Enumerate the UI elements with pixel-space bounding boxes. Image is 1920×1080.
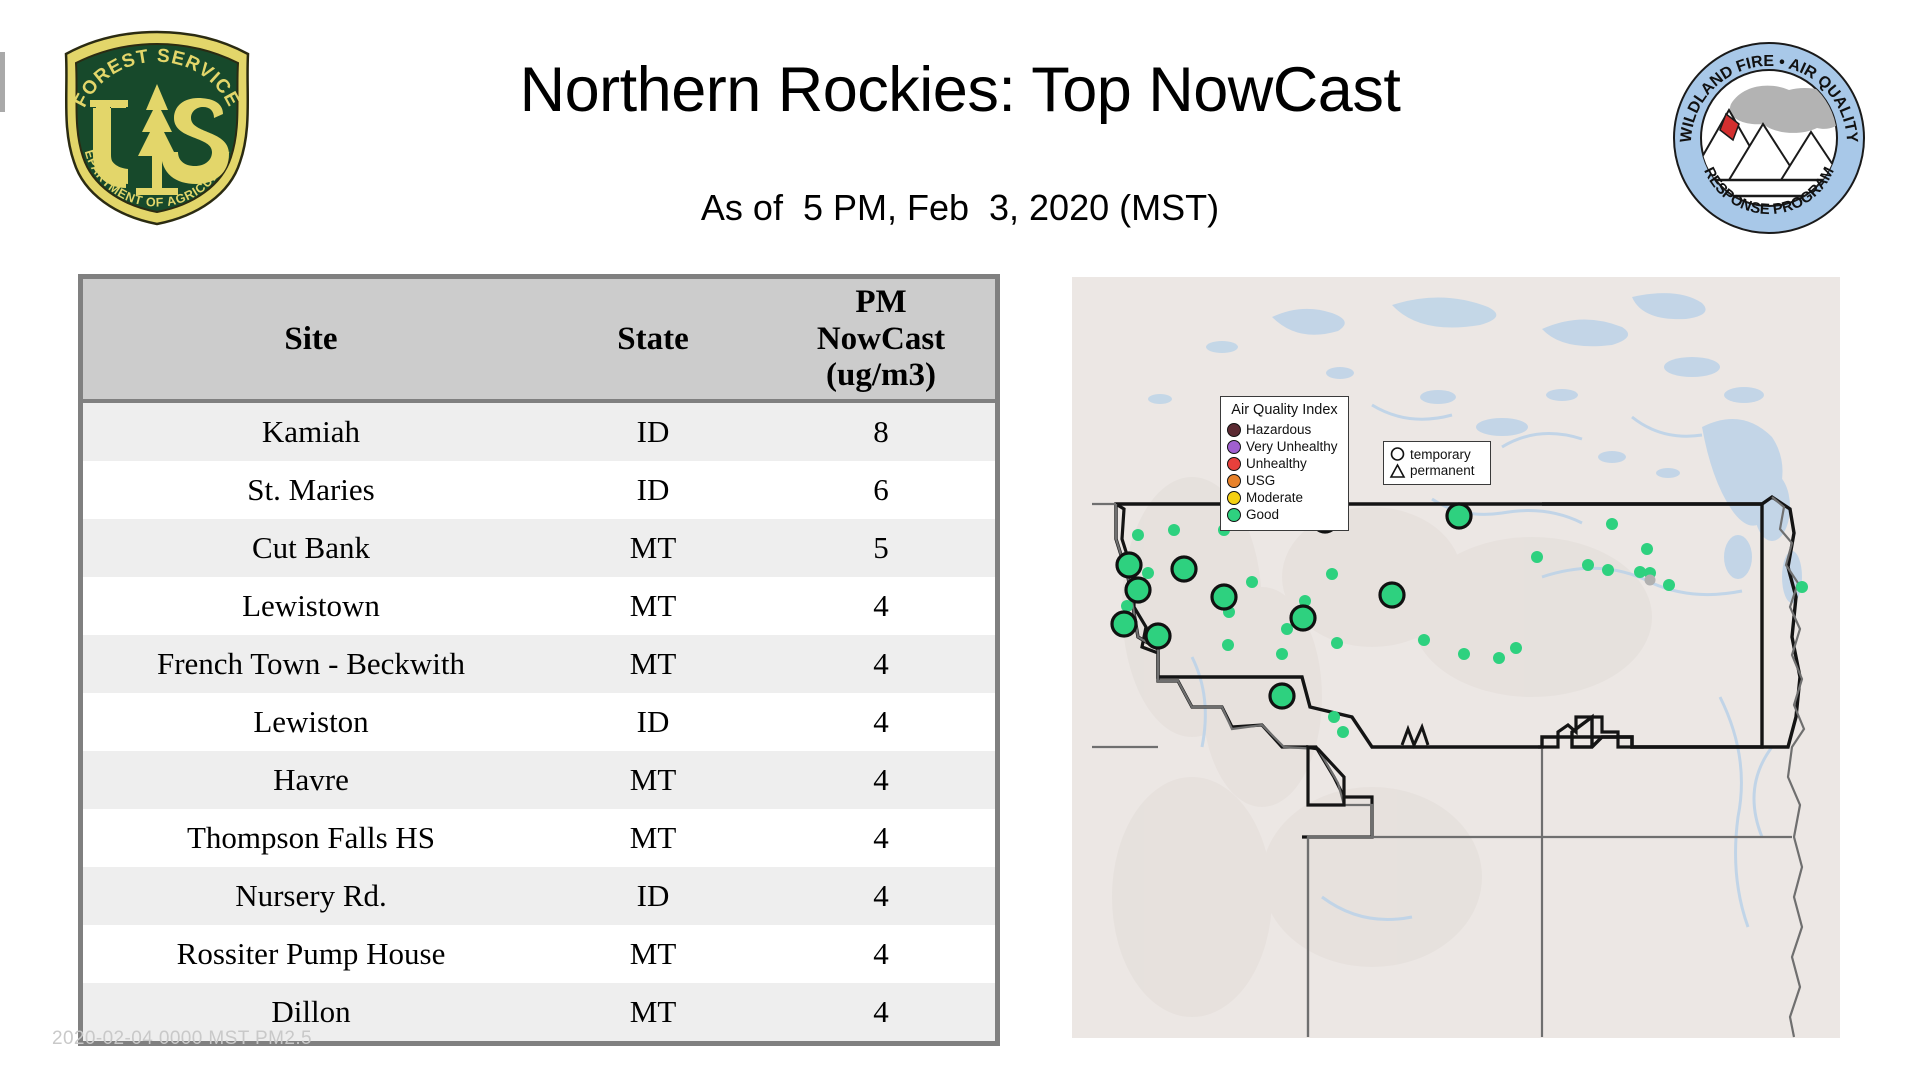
legend-permanent-label: permanent [1410, 463, 1475, 479]
cell-pm-nowcast: 4 [767, 809, 995, 867]
map-legend-air-quality-index: Air Quality Index HazardousVery Unhealth… [1220, 396, 1349, 531]
legend-color-dot-icon [1227, 423, 1241, 437]
monitor-dot[interactable] [1582, 559, 1594, 571]
monitor-dot-highlighted[interactable] [1270, 684, 1294, 708]
monitor-dot[interactable] [1276, 648, 1288, 660]
cell-state: ID [539, 401, 767, 461]
table-row: Rossiter Pump HouseMT4 [83, 925, 995, 983]
legend-temporary-label: temporary [1410, 447, 1475, 463]
monitor-dot[interactable] [1326, 568, 1338, 580]
table-row: KamiahID8 [83, 401, 995, 461]
monitor-dot[interactable] [1458, 648, 1470, 660]
cell-pm-nowcast: 8 [767, 401, 995, 461]
map-legend-site-type: temporary permanent [1383, 441, 1491, 485]
temporary-circle-icon [1392, 448, 1404, 460]
monitor-dot[interactable] [1132, 529, 1144, 541]
legend-item: USG [1227, 472, 1342, 489]
cell-site: Thompson Falls HS [83, 809, 539, 867]
monitor-dot-highlighted[interactable] [1126, 578, 1150, 602]
legend-color-dot-icon [1227, 508, 1241, 522]
monitor-dot-highlighted[interactable] [1112, 612, 1136, 636]
monitor-dot[interactable] [1531, 551, 1543, 563]
legend-item-label: Hazardous [1246, 423, 1311, 437]
monitor-dot-offline [1645, 575, 1656, 586]
cell-pm-nowcast: 4 [767, 635, 995, 693]
column-header-pm-nowcast: PM NowCast (ug/m3) [767, 279, 995, 401]
legend-item-label: Very Unhealthy [1246, 440, 1338, 454]
cell-site: St. Maries [83, 461, 539, 519]
cell-site: Kamiah [83, 401, 539, 461]
cell-site: Havre [83, 751, 539, 809]
monitor-dot[interactable] [1331, 637, 1343, 649]
legend-item: Unhealthy [1227, 455, 1342, 472]
monitor-dot[interactable] [1337, 726, 1349, 738]
table-row: Cut BankMT5 [83, 519, 995, 577]
legend-item-label: Moderate [1246, 491, 1303, 505]
monitor-dot[interactable] [1510, 642, 1522, 654]
cell-pm-nowcast: 4 [767, 867, 995, 925]
page-title: Northern Rockies: Top NowCast [260, 56, 1660, 125]
cell-pm-nowcast: 4 [767, 925, 995, 983]
cell-pm-nowcast: 4 [767, 751, 995, 809]
monitor-dot[interactable] [1168, 524, 1180, 536]
site-type-icons [1389, 446, 1406, 480]
monitor-dot[interactable] [1418, 634, 1430, 646]
legend-item: Hazardous [1227, 421, 1342, 438]
legend-color-dot-icon [1227, 491, 1241, 505]
page-subtitle: As of 5 PM, Feb 3, 2020 (MST) [260, 186, 1660, 229]
cell-pm-nowcast: 4 [767, 693, 995, 751]
slide-edge-artifact [0, 52, 5, 112]
table-row: French Town - BeckwithMT4 [83, 635, 995, 693]
cell-state: MT [539, 983, 767, 1041]
table-row: HavreMT4 [83, 751, 995, 809]
cell-state: ID [539, 867, 767, 925]
cell-state: MT [539, 635, 767, 693]
cell-state: MT [539, 809, 767, 867]
cell-state: MT [539, 751, 767, 809]
wildland-fire-air-quality-logo: WILDLAND FIRE • AIR QUALITY RESPONSE PRO… [1671, 40, 1867, 236]
cell-pm-nowcast: 4 [767, 577, 995, 635]
monitor-dot-highlighted[interactable] [1447, 504, 1471, 528]
monitor-dot[interactable] [1281, 623, 1293, 635]
legend-color-dot-icon [1227, 440, 1241, 454]
monitor-dot[interactable] [1222, 639, 1234, 651]
column-header-site: Site [83, 279, 539, 401]
cell-state: MT [539, 925, 767, 983]
column-header-state: State [539, 279, 767, 401]
us-forest-service-logo: FOREST SERVICE DEPARTMENT OF AGRICULTURE [48, 28, 266, 228]
monitor-dot-highlighted[interactable] [1212, 585, 1236, 609]
monitor-dot[interactable] [1641, 543, 1653, 555]
cell-pm-nowcast: 5 [767, 519, 995, 577]
air-quality-monitor-map[interactable] [1072, 277, 1840, 1038]
monitor-dot[interactable] [1663, 579, 1675, 591]
monitor-dot-highlighted[interactable] [1117, 553, 1141, 577]
monitor-dot[interactable] [1142, 567, 1154, 579]
monitor-dot-highlighted[interactable] [1172, 557, 1196, 581]
legend-item: Very Unhealthy [1227, 438, 1342, 455]
monitor-dot[interactable] [1121, 600, 1133, 612]
cell-state: MT [539, 577, 767, 635]
table-row: LewistonID4 [83, 693, 995, 751]
cell-site: Cut Bank [83, 519, 539, 577]
monitor-dot[interactable] [1602, 564, 1614, 576]
legend-title: Air Quality Index [1227, 402, 1342, 418]
legend-item: Good [1227, 506, 1342, 523]
cell-site: Rossiter Pump House [83, 925, 539, 983]
legend-item-label: Unhealthy [1246, 457, 1307, 471]
cell-pm-nowcast: 6 [767, 461, 995, 519]
table-row: LewistownMT4 [83, 577, 995, 635]
monitor-dot[interactable] [1606, 518, 1618, 530]
footer-note: 2020-02-04 0000 MST PM2.5 [52, 1028, 312, 1050]
table-body: KamiahID8St. MariesID6Cut BankMT5Lewisto… [83, 401, 995, 1041]
legend-item-label: USG [1246, 474, 1275, 488]
legend-color-dot-icon [1227, 457, 1241, 471]
table-row: Thompson Falls HSMT4 [83, 809, 995, 867]
top-nowcast-table: Site State PM NowCast (ug/m3) KamiahID8S… [78, 274, 1000, 1046]
permanent-triangle-icon [1391, 465, 1404, 477]
table-row: Nursery Rd.ID4 [83, 867, 995, 925]
cell-state: ID [539, 461, 767, 519]
cell-state: ID [539, 693, 767, 751]
monitor-dot[interactable] [1328, 711, 1340, 723]
slide-canvas: FOREST SERVICE DEPARTMENT OF AGRICULTURE [0, 0, 1920, 1080]
legend-item: Moderate [1227, 489, 1342, 506]
monitor-dot[interactable] [1246, 576, 1258, 588]
monitor-dot-highlighted[interactable] [1291, 606, 1315, 630]
legend-color-dot-icon [1227, 474, 1241, 488]
cell-site: Nursery Rd. [83, 867, 539, 925]
table-header-row: Site State PM NowCast (ug/m3) [83, 279, 995, 401]
monitor-dot[interactable] [1493, 652, 1505, 664]
cell-site: Lewistown [83, 577, 539, 635]
monitor-dot-highlighted[interactable] [1380, 583, 1404, 607]
cell-site: Lewiston [83, 693, 539, 751]
monitor-dot[interactable] [1796, 581, 1808, 593]
cell-pm-nowcast: 4 [767, 983, 995, 1041]
monitor-dot-highlighted[interactable] [1146, 624, 1170, 648]
cell-site: French Town - Beckwith [83, 635, 539, 693]
table-row: St. MariesID6 [83, 461, 995, 519]
cell-state: MT [539, 519, 767, 577]
legend-item-label: Good [1246, 508, 1279, 522]
